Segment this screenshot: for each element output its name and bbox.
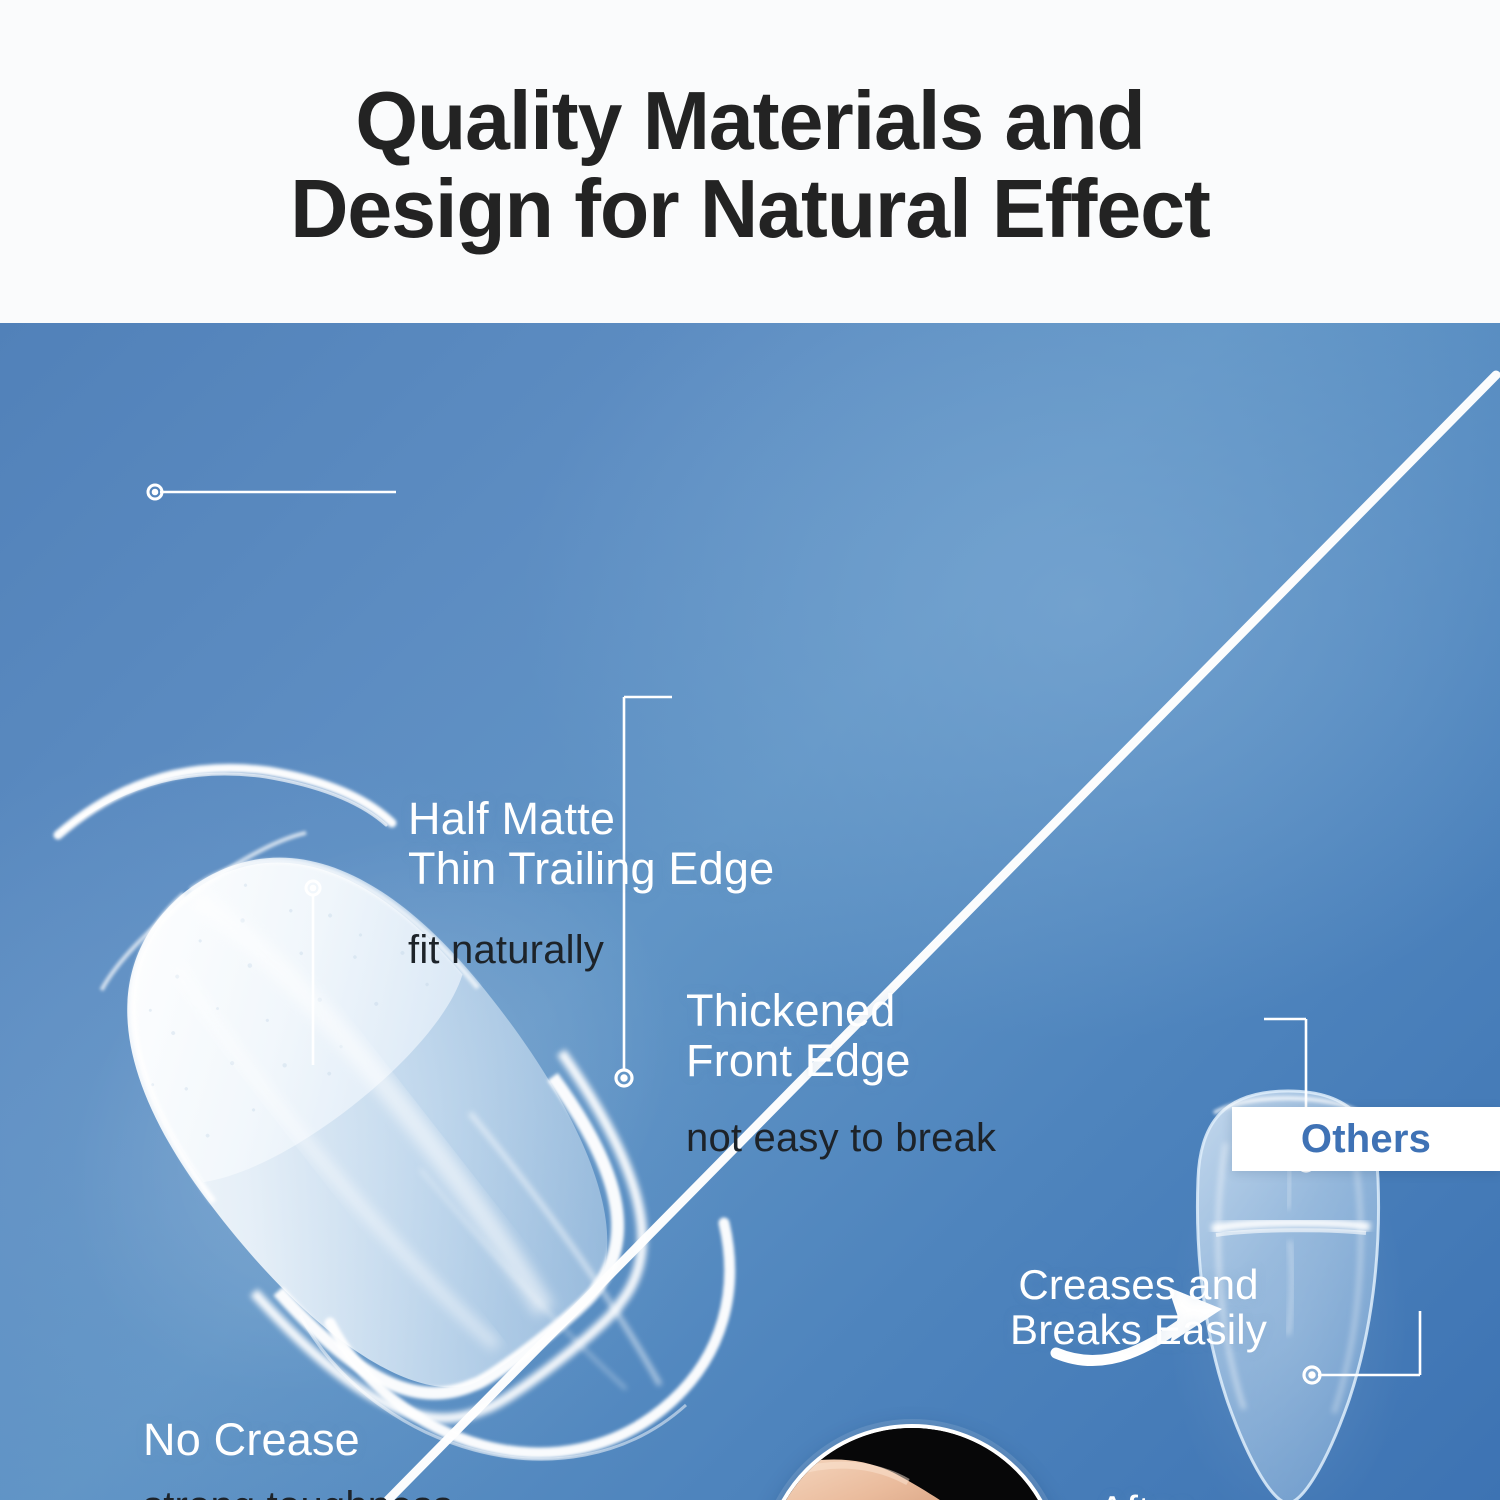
- callout-title-creases-and-breaks: Creases and Breaks Easily: [1010, 1262, 1267, 1353]
- creases-line-2: Breaks Easily: [1010, 1307, 1267, 1352]
- thickened-line-1: Thickened: [686, 986, 911, 1036]
- illustration-layer: [0, 323, 1500, 1500]
- page-title: Quality Materials and Design for Natural…: [290, 71, 1210, 253]
- thickened-line-2: Front Edge: [686, 1036, 911, 1086]
- after-bend-line-1: After: [1098, 1487, 1197, 1500]
- header-band: Quality Materials and Design for Natural…: [0, 0, 1500, 323]
- callout-title-after-bend: After Bend: [1098, 1487, 1197, 1500]
- product-comparison-panel: Half Matte Thin Trailing Edge fit natura…: [0, 323, 1500, 1500]
- callout-subtitle-strong-toughness: strong toughness: [143, 1483, 453, 1500]
- callout-title-no-crease: No Crease: [143, 1415, 360, 1465]
- callout-subtitle-fit-naturally: fit naturally: [408, 927, 604, 973]
- half-matte-line-1: Half Matte: [408, 794, 774, 844]
- half-matte-line-2: Thin Trailing Edge: [408, 844, 774, 894]
- creases-line-1: Creases and: [1010, 1262, 1267, 1307]
- callout-title-thickened-front-edge: Thickened Front Edge: [686, 986, 911, 1087]
- page-title-line-1: Quality Materials and: [355, 74, 1144, 167]
- others-badge-label: Others: [1301, 1117, 1431, 1162]
- callout-subtitle-not-easy-to-break: not easy to break: [686, 1115, 996, 1161]
- others-badge: Others: [1232, 1107, 1500, 1171]
- infographic-canvas: Quality Materials and Design for Natural…: [0, 0, 1500, 1500]
- callout-title-half-matte: Half Matte Thin Trailing Edge: [408, 794, 774, 895]
- page-title-line-2: Design for Natural Effect: [290, 165, 1210, 253]
